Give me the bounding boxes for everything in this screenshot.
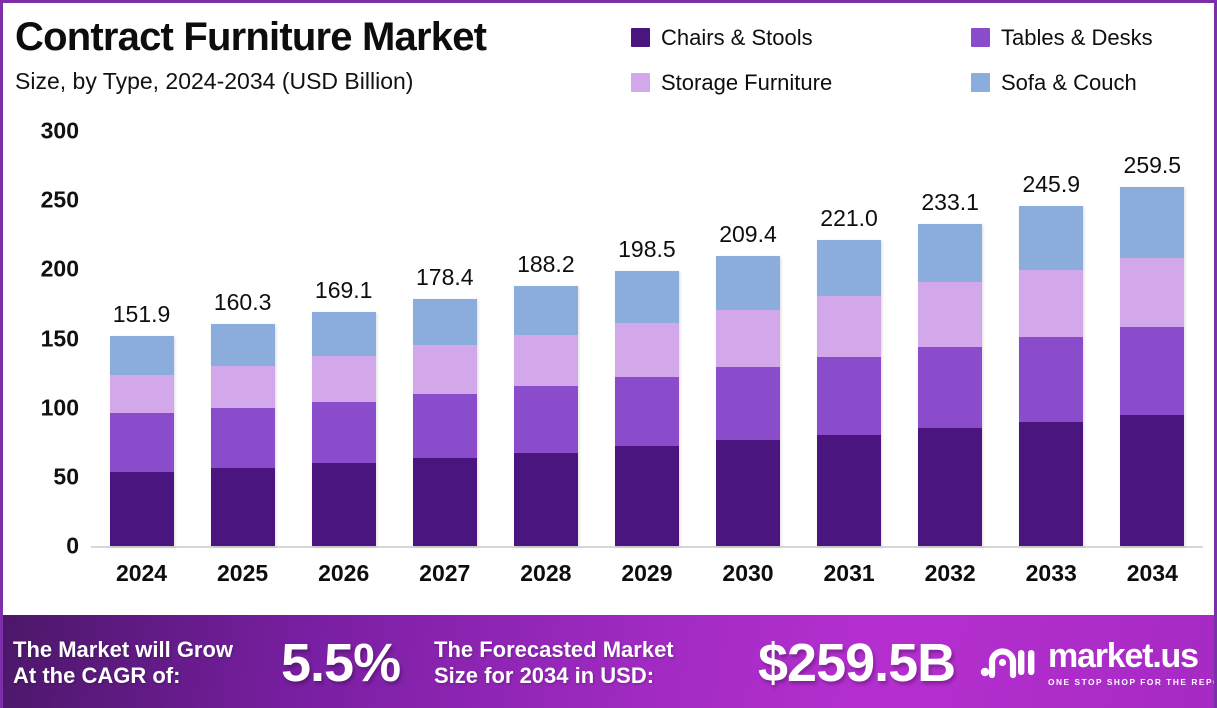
bar-stack[interactable] — [1019, 206, 1083, 546]
bar-segment[interactable] — [1019, 206, 1083, 270]
x-axis-tick: 2033 — [1001, 560, 1102, 587]
bar-segment[interactable] — [110, 472, 174, 546]
bar-segment[interactable] — [615, 271, 679, 323]
bar-segment[interactable] — [110, 413, 174, 472]
page-title: Contract Furniture Market — [15, 17, 486, 57]
bar-group[interactable]: 188.2 — [495, 111, 596, 546]
bar-segment[interactable] — [716, 440, 780, 546]
x-axis-tick: 2026 — [293, 560, 394, 587]
bar-segment[interactable] — [716, 256, 780, 310]
bar-segment[interactable] — [312, 312, 376, 355]
x-axis-tick: 2030 — [698, 560, 799, 587]
bar-total-label: 245.9 — [1001, 171, 1102, 198]
bar-segment[interactable] — [817, 296, 881, 356]
bar-segment[interactable] — [615, 446, 679, 546]
bar-group[interactable]: 209.4 — [698, 111, 799, 546]
footer-cagr-value: 5.5% — [281, 632, 400, 694]
bar-stack[interactable] — [716, 256, 780, 546]
bar-group[interactable]: 169.1 — [293, 111, 394, 546]
y-axis-tick: 300 — [41, 118, 79, 145]
legend-label: Chairs & Stools — [661, 25, 813, 51]
bar-total-label: 151.9 — [91, 301, 192, 328]
footer-cagr-line1: The Market will Grow — [13, 637, 233, 663]
bar-total-label: 160.3 — [192, 289, 293, 316]
footer-size-caption: The Forecasted Market Size for 2034 in U… — [434, 637, 674, 689]
x-axis-tick: 2025 — [192, 560, 293, 587]
bar-segment[interactable] — [716, 310, 780, 367]
bar-series-container: 151.9160.3169.1178.4188.2198.5209.4221.0… — [91, 111, 1203, 546]
bar-total-label: 178.4 — [394, 264, 495, 291]
page-subtitle: Size, by Type, 2024-2034 (USD Billion) — [15, 68, 486, 95]
legend-item-chairs-stools[interactable]: Chairs & Stools — [631, 25, 971, 51]
x-axis-tick: 2032 — [900, 560, 1001, 587]
chart-page: Contract Furniture Market Size, by Type,… — [0, 0, 1217, 708]
bar-group[interactable]: 233.1 — [900, 111, 1001, 546]
bar-segment[interactable] — [615, 323, 679, 377]
bar-group[interactable]: 259.5 — [1102, 111, 1203, 546]
bar-stack[interactable] — [1120, 187, 1184, 546]
bar-segment[interactable] — [817, 435, 881, 546]
bar-segment[interactable] — [918, 428, 982, 546]
bar-stack[interactable] — [110, 336, 174, 546]
bar-stack[interactable] — [615, 271, 679, 546]
x-axis-tick: 2034 — [1102, 560, 1203, 587]
x-axis-tick: 2029 — [596, 560, 697, 587]
bar-segment[interactable] — [211, 366, 275, 408]
bar-segment[interactable] — [514, 286, 578, 335]
bar-stack[interactable] — [817, 240, 881, 546]
brand-tagline: ONE STOP SHOP FOR THE REPORTS — [1048, 677, 1217, 687]
bar-group[interactable]: 151.9 — [91, 111, 192, 546]
bar-segment[interactable] — [918, 282, 982, 347]
bar-segment[interactable] — [514, 335, 578, 386]
bar-segment[interactable] — [1120, 258, 1184, 327]
bar-segment[interactable] — [110, 375, 174, 413]
legend-item-sofa-couch[interactable]: Sofa & Couch — [971, 70, 1206, 96]
chart-header: Contract Furniture Market Size, by Type,… — [3, 3, 1214, 111]
bar-stack[interactable] — [514, 286, 578, 546]
bar-segment[interactable] — [514, 453, 578, 546]
y-axis-tick: 250 — [41, 187, 79, 214]
legend-swatch-icon — [971, 28, 990, 47]
bar-stack[interactable] — [918, 224, 982, 546]
bar-segment[interactable] — [918, 224, 982, 282]
bar-total-label: 188.2 — [495, 251, 596, 278]
bar-segment[interactable] — [110, 336, 174, 375]
bar-segment[interactable] — [1019, 270, 1083, 337]
bar-segment[interactable] — [1019, 422, 1083, 546]
chart-legend: Chairs & Stools Tables & Desks Storage F… — [631, 15, 1206, 105]
x-axis-tick: 2027 — [394, 560, 495, 587]
bar-group[interactable]: 245.9 — [1001, 111, 1102, 546]
title-block: Contract Furniture Market Size, by Type,… — [15, 17, 486, 95]
bar-segment[interactable] — [1120, 415, 1184, 546]
bar-segment[interactable] — [312, 356, 376, 402]
bar-segment[interactable] — [413, 345, 477, 394]
bar-stack[interactable] — [413, 299, 477, 546]
y-axis-tick: 150 — [41, 325, 79, 352]
x-axis-baseline — [91, 546, 1203, 548]
y-axis: 050100150200250300 — [3, 111, 89, 551]
market-us-logomark-icon — [980, 641, 1038, 686]
bar-segment[interactable] — [716, 367, 780, 440]
bar-segment[interactable] — [1019, 337, 1083, 422]
y-axis-tick: 0 — [66, 533, 79, 560]
bar-segment[interactable] — [817, 240, 881, 296]
footer-size-line2: Size for 2034 in USD: — [434, 663, 674, 689]
bar-stack[interactable] — [312, 312, 376, 546]
bar-segment[interactable] — [514, 386, 578, 453]
bar-group[interactable]: 198.5 — [596, 111, 697, 546]
brand-logo[interactable]: market.us ONE STOP SHOP FOR THE REPORTS — [980, 639, 1217, 687]
y-axis-tick: 200 — [41, 256, 79, 283]
bar-segment[interactable] — [817, 357, 881, 435]
legend-item-tables-desks[interactable]: Tables & Desks — [971, 25, 1206, 51]
bar-total-label: 209.4 — [698, 221, 799, 248]
bar-segment[interactable] — [312, 402, 376, 464]
bar-segment[interactable] — [1120, 327, 1184, 415]
bar-segment[interactable] — [312, 463, 376, 546]
bar-segment[interactable] — [1120, 187, 1184, 258]
footer-cagr-line2: At the CAGR of: — [13, 663, 233, 689]
footer-banner: The Market will Grow At the CAGR of: 5.5… — [0, 615, 1217, 708]
bar-segment[interactable] — [413, 299, 477, 345]
y-axis-tick: 100 — [41, 394, 79, 421]
bar-segment[interactable] — [413, 458, 477, 546]
bar-total-label: 233.1 — [900, 189, 1001, 216]
bar-total-label: 169.1 — [293, 277, 394, 304]
x-axis: 2024202520262027202820292030203120322033… — [91, 560, 1203, 587]
bar-total-label: 221.0 — [799, 205, 900, 232]
brand-name: market.us — [1048, 639, 1217, 673]
bar-total-label: 198.5 — [596, 236, 697, 263]
bar-segment[interactable] — [211, 468, 275, 546]
legend-swatch-icon — [631, 28, 650, 47]
x-axis-tick: 2031 — [799, 560, 900, 587]
bar-segment[interactable] — [211, 408, 275, 468]
legend-label: Sofa & Couch — [1001, 70, 1137, 96]
legend-swatch-icon — [971, 73, 990, 92]
legend-label: Storage Furniture — [661, 70, 832, 96]
bar-segment[interactable] — [615, 377, 679, 446]
footer-size-line1: The Forecasted Market — [434, 637, 674, 663]
legend-label: Tables & Desks — [1001, 25, 1153, 51]
bar-segment[interactable] — [413, 394, 477, 459]
y-axis-tick: 50 — [53, 463, 79, 490]
bar-group[interactable]: 178.4 — [394, 111, 495, 546]
bar-total-label: 259.5 — [1102, 152, 1203, 179]
bar-group[interactable]: 221.0 — [799, 111, 900, 546]
chart-plot-area: 050100150200250300 151.9160.3169.1178.41… — [3, 111, 1214, 611]
footer-size-value: $259.5B — [758, 632, 955, 694]
footer-cagr-caption: The Market will Grow At the CAGR of: — [13, 637, 233, 689]
brand-wordmark: market.us ONE STOP SHOP FOR THE REPORTS — [1048, 639, 1217, 687]
bar-stack[interactable] — [211, 324, 275, 546]
legend-swatch-icon — [631, 73, 650, 92]
x-axis-tick: 2024 — [91, 560, 192, 587]
bar-group[interactable]: 160.3 — [192, 111, 293, 546]
legend-item-storage-furniture[interactable]: Storage Furniture — [631, 70, 971, 96]
bar-segment[interactable] — [211, 324, 275, 365]
bar-segment[interactable] — [918, 347, 982, 428]
x-axis-tick: 2028 — [495, 560, 596, 587]
